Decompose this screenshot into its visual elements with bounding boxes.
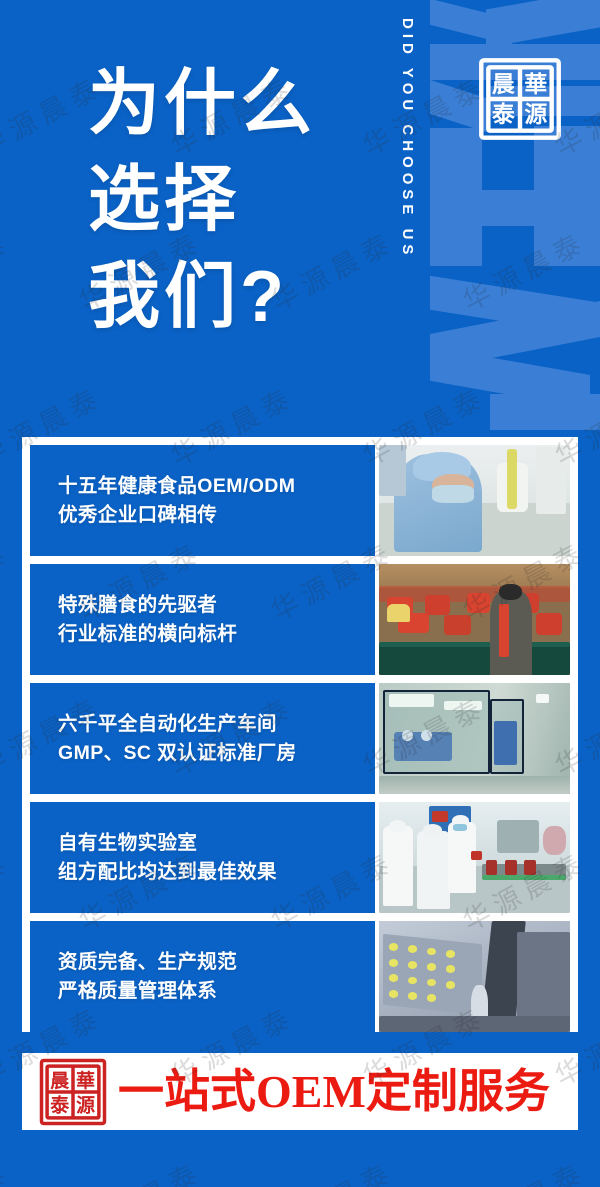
feature-photo [379,921,570,1032]
feature-text: 六千平全自动化生产车间 GMP、SC 双认证标准厂房 [30,683,375,794]
promotional-poster: 为什么 选择 我们? DID YOU CHOOSE US 華 源 晨 泰 [0,0,600,1187]
svg-text:晨: 晨 [492,72,515,98]
svg-text:泰: 泰 [491,101,516,128]
feature-photo [379,564,570,675]
feature-text: 自有生物实验室 组方配比均达到最佳效果 [30,802,375,913]
feature-line: 优秀企业口碑相传 [58,501,375,529]
company-seal-red-icon: 華 源 晨 泰 [38,1057,108,1127]
feature-line: 严格质量管理体系 [58,977,375,1005]
feature-text: 资质完备、生产规范 严格质量管理体系 [30,921,375,1032]
svg-text:源: 源 [524,102,547,128]
feature-line: 六千平全自动化生产车间 [58,710,375,738]
feature-line: 行业标准的横向标杆 [58,620,375,648]
feature-line: 自有生物实验室 [58,829,375,857]
feature-photo [379,445,570,556]
vertical-tagline: DID YOU CHOOSE US [399,18,416,404]
feature-text: 特殊膳食的先驱者 行业标准的横向标杆 [30,564,375,675]
svg-text:源: 源 [76,1093,95,1116]
feature-line: 组方配比均达到最佳效果 [58,858,375,886]
watermark-text: 华源晨泰 [0,1150,17,1187]
feature-photo [379,683,570,794]
feature-row: 自有生物实验室 组方配比均达到最佳效果 [30,802,570,913]
svg-text:華: 華 [76,1069,95,1092]
watermark-text: 华源晨泰 [0,530,17,628]
poster-header: 为什么 选择 我们? DID YOU CHOOSE US 華 源 晨 泰 [0,0,600,432]
watermark-text: 华源晨泰 [71,1150,209,1187]
feature-row: 六千平全自动化生产车间 GMP、SC 双认证标准厂房 [30,683,570,794]
feature-line: 特殊膳食的先驱者 [58,591,375,619]
watermark-text: 华源晨泰 [455,1150,593,1187]
svg-text:晨: 晨 [50,1070,69,1092]
feature-photo [379,802,570,913]
page-title: 为什么 选择 我们? [88,56,316,345]
cta-text: 一站式OEM定制服务 [118,1069,550,1115]
feature-line: 十五年健康食品OEM/ODM [58,472,375,500]
watermark-text: 华源晨泰 [0,840,17,938]
title-line-1: 为什么 [88,56,316,152]
feature-row: 十五年健康食品OEM/ODM 优秀企业口碑相传 [30,445,570,556]
company-seal-icon: 華 源 晨 泰 [476,55,564,143]
feature-text: 十五年健康食品OEM/ODM 优秀企业口碑相传 [30,445,375,556]
title-line-2: 选择 [88,152,316,248]
svg-text:華: 華 [524,71,547,98]
watermark-text: 华源晨泰 [263,1150,401,1187]
svg-text:泰: 泰 [49,1093,70,1116]
title-line-3: 我们? [88,249,316,345]
feature-row: 特殊膳食的先驱者 行业标准的横向标杆 [30,564,570,675]
feature-list-panel: 十五年健康食品OEM/ODM 优秀企业口碑相传 [22,437,578,1032]
bottom-cta-banner: 華 源 晨 泰 一站式OEM定制服务 [22,1053,578,1130]
feature-line: 资质完备、生产规范 [58,948,375,976]
feature-line: GMP、SC 双认证标准厂房 [58,739,375,767]
feature-row: 资质完备、生产规范 严格质量管理体系 [30,921,570,1032]
